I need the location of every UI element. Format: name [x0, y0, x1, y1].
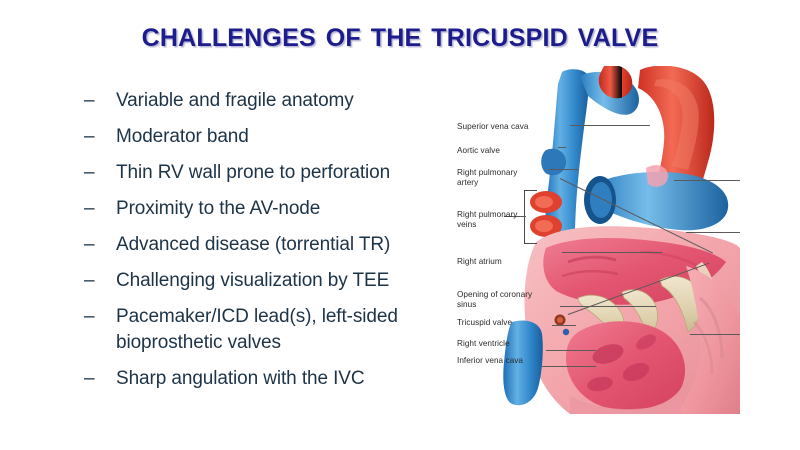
leader-line-tricuspid-valve: [552, 325, 576, 326]
pulmonary-vein-highlight: [535, 196, 553, 208]
leader-line-svc: [570, 125, 650, 126]
leader-line-ivc: [542, 366, 596, 367]
figure-label-tricuspid-valve: Tricuspid valve: [457, 318, 553, 328]
leader-line-aorta-right: [674, 180, 740, 181]
list-item-label: Pacemaker/ICD lead(s), left-sided biopro…: [116, 304, 444, 356]
leader-line-right-ventricle-right: [690, 334, 740, 335]
figure-label-right-ventricle: Right ventricle: [457, 339, 553, 349]
leader-line-coronary-sinus: [560, 306, 656, 307]
list-item-label: Sharp angulation with the IVC: [116, 366, 444, 392]
list-item: – Variable and fragile anatomy: [84, 88, 444, 114]
list-item-label: Thin RV wall prone to perforation: [116, 160, 444, 186]
bullet-marker-icon: –: [84, 304, 116, 330]
bullet-marker-icon: –: [84, 196, 116, 222]
bullet-marker-icon: –: [84, 124, 116, 150]
figure-label-right-atrium: Right atrium: [457, 257, 553, 267]
coronary-sinus-inner: [557, 317, 563, 323]
list-item: – Pacemaker/ICD lead(s), left-sided biop…: [84, 304, 444, 356]
figure-label-opening-of-coronary-sinus: Opening of coronary sinus: [457, 290, 567, 310]
list-item-label: Advanced disease (torrential TR): [116, 232, 444, 258]
page-title: Challenges of the Tricuspid Valve: [0, 16, 800, 55]
pulmonary-artery-lumen-inner: [590, 182, 612, 218]
small-vein-opening: [563, 329, 569, 335]
list-item: – Advanced disease (torrential TR): [84, 232, 444, 258]
figure-label-superior-vena-cava: Superior vena cava: [457, 122, 553, 132]
list-item: – Sharp angulation with the IVC: [84, 366, 444, 392]
list-item: – Proximity to the AV-node: [84, 196, 444, 222]
figure-label-inferior-vena-cava: Inferior vena cava: [457, 356, 557, 366]
list-item-label: Variable and fragile anatomy: [116, 88, 444, 114]
list-item-label: Challenging visualization by TEE: [116, 268, 444, 294]
bullet-list: – Variable and fragile anatomy – Moderat…: [84, 88, 444, 402]
leader-line-right-ventricle: [546, 350, 596, 351]
figure-label-aortic-valve: Aortic valve: [457, 146, 553, 156]
leader-line-right-atrium: [562, 252, 662, 253]
list-item: – Thin RV wall prone to perforation: [84, 160, 444, 186]
bullet-marker-icon: –: [84, 366, 116, 392]
bullet-marker-icon: –: [84, 88, 116, 114]
list-item-label: Moderator band: [116, 124, 444, 150]
bullet-marker-icon: –: [84, 232, 116, 258]
list-item-label: Proximity to the AV-node: [116, 196, 444, 222]
small-vessel-detail: [646, 165, 668, 187]
figure-label-right-pulmonary-artery: Right pulmonary artery: [457, 168, 549, 188]
figure-label-right-pulmonary-veins: Right pulmonary veins: [457, 210, 549, 230]
leader-line-vessel-right: [686, 232, 740, 233]
bullet-marker-icon: –: [84, 268, 116, 294]
leader-line-aortic-valve-a: [558, 147, 566, 148]
slide-canvas: Challenges of the Tricuspid Valve – Vari…: [0, 0, 800, 450]
list-item: – Challenging visualization by TEE: [84, 268, 444, 294]
list-item: – Moderator band: [84, 124, 444, 150]
bullet-marker-icon: –: [84, 160, 116, 186]
leader-line-rpa: [548, 169, 578, 170]
